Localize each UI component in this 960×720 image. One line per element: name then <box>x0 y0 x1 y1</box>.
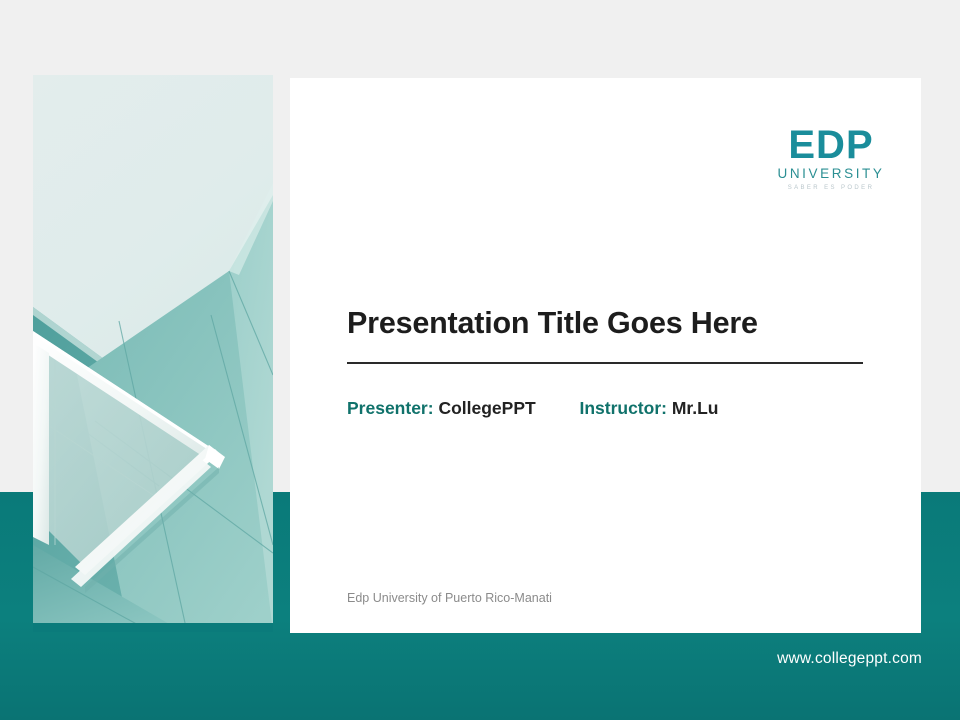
title-block: Presentation Title Goes Here <box>347 306 863 364</box>
credits-line: Presenter: CollegePPT Instructor: Mr.Lu <box>347 398 719 419</box>
presenter-name: CollegePPT <box>438 398 535 418</box>
website-url: www.collegeppt.com <box>777 650 922 668</box>
slide-card: EDP UNIVERSITY SABER ES PODER Presentati… <box>290 78 921 633</box>
slide-root: EDP UNIVERSITY SABER ES PODER Presentati… <box>0 0 960 720</box>
instructor-label: Instructor: <box>579 398 667 418</box>
logo-mark-text: EDP <box>776 126 886 164</box>
edp-university-logo: EDP UNIVERSITY SABER ES PODER <box>776 126 886 191</box>
instructor-name: Mr.Lu <box>672 398 719 418</box>
presenter-label: Presenter: <box>347 398 434 418</box>
logo-name-text: UNIVERSITY <box>776 167 886 181</box>
logo-tagline-text: SABER ES PODER <box>776 185 886 191</box>
title-divider <box>347 362 863 364</box>
cover-photo-artwork <box>33 75 273 632</box>
cover-photo <box>33 75 273 632</box>
page-title: Presentation Title Goes Here <box>347 306 863 341</box>
institution-footer: Edp University of Puerto Rico-Manati <box>347 591 552 605</box>
